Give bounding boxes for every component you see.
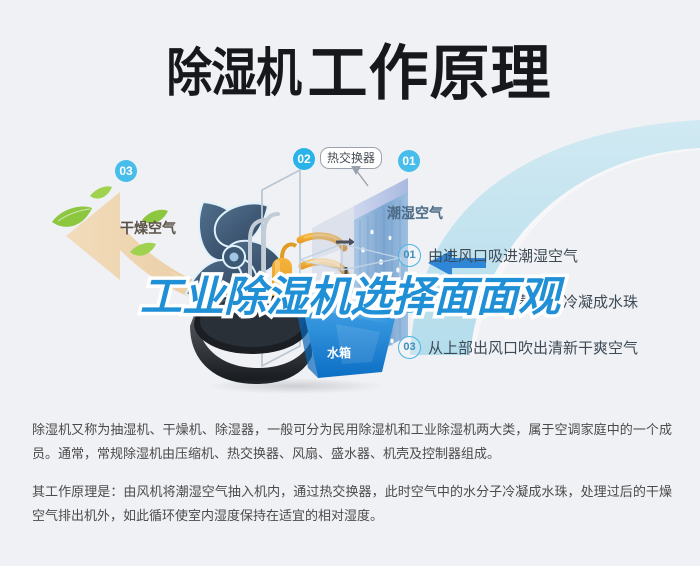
infographic-page: 除湿机工作原理 (0, 0, 700, 566)
callout-tail-icon (351, 166, 361, 175)
step-number: 03 (398, 336, 421, 359)
watermark-overlay: 工业除湿机选择面面观 工业除湿机选择面面观 (0, 263, 700, 324)
label-moist-air: 潮湿空气 (387, 203, 443, 223)
list-item: 03 从上部出风口吹出清新干爽空气 (398, 335, 698, 359)
step-text: 从上部出风口吹出清新干爽空气 (428, 337, 638, 358)
page-title-part2: 工作原理 (308, 25, 552, 112)
badge-02-heat-exchanger: 02 (293, 148, 315, 170)
body-copy: 除湿机又称为抽湿机、干燥机、除湿器，一般可分为民用除湿机和工业除湿机两大类，属于… (32, 418, 672, 528)
badge-01-moist-air: 01 (398, 150, 420, 172)
badge-03-dry-air: 03 (115, 160, 137, 182)
paragraph-1: 除湿机又称为抽湿机、干燥机、除湿器，一般可分为民用除湿机和工业除湿机两大类，属于… (32, 418, 672, 466)
paragraph-2: 其工作原理是：由风机将潮湿空气抽入机内，通过热交换器，此时空气中的水分子冷凝成水… (32, 480, 672, 528)
ground-shadow (205, 378, 385, 394)
label-water-tank: 水箱 (327, 344, 351, 361)
label-dry-air: 干燥空气 (120, 218, 176, 238)
page-title: 除湿机工作原理 (0, 25, 700, 112)
page-title-part1: 除湿机 (167, 31, 302, 106)
watermark-text: 工业除湿机选择面面观 (0, 263, 700, 324)
